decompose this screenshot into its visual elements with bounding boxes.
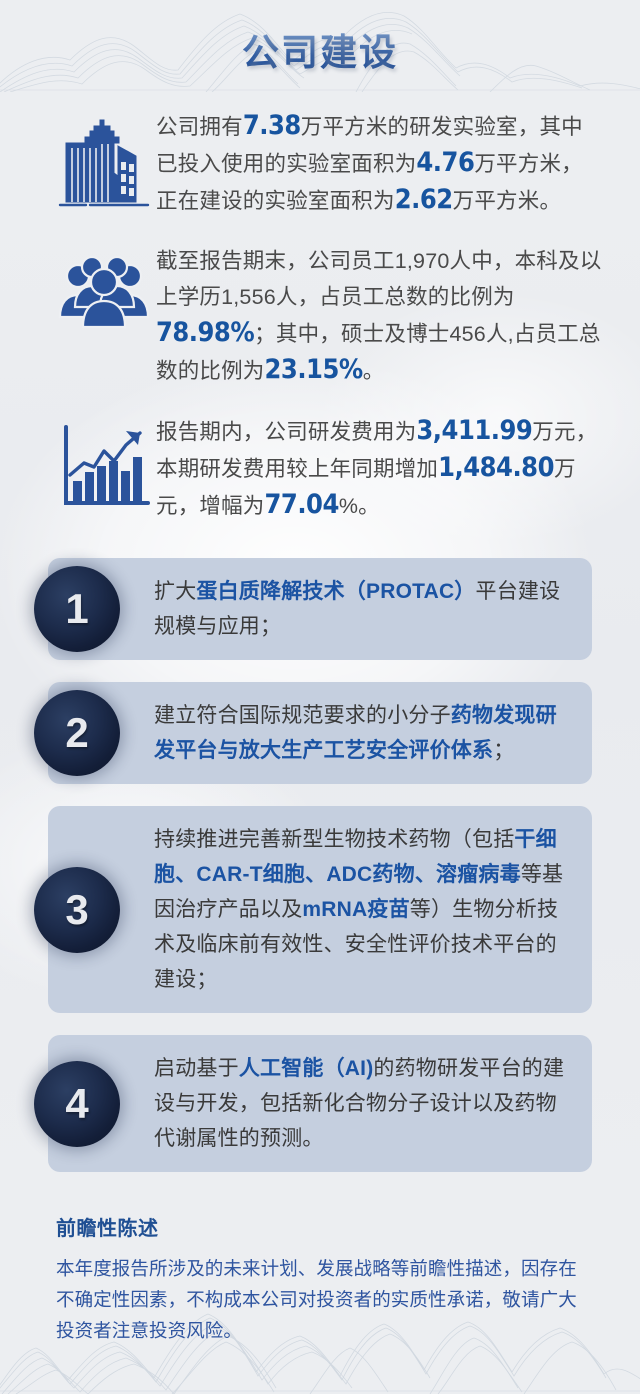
stats-section: 公司拥有7.38万平方米的研发实验室，其中已投入使用的实验室面积为4.76万平方… [0, 98, 640, 524]
footer-body: 本年度报告所涉及的未来计划、发展战略等前瞻性描述，因存在不确定性因素，不构成本公… [56, 1253, 584, 1346]
card-text-part: 持续推进完善新型生物技术药物（包括 [154, 828, 514, 851]
stat-highlight-value: 1,484.80 [438, 452, 554, 483]
page-title: 公司建设 [242, 22, 398, 76]
stat-highlight-value: 7.38 [243, 110, 301, 141]
stat-row: 公司拥有7.38万平方米的研发实验室，其中已投入使用的实验室面积为4.76万平方… [0, 106, 640, 219]
stat-text: 公司拥有7.38万平方米的研发实验室，其中已投入使用的实验室面积为4.76万平方… [156, 106, 604, 219]
building-icon [56, 114, 152, 210]
list-item-text: 持续推进完善新型生物技术药物（包括干细胞、CAR-T细胞、ADC药物、溶瘤病毒等… [154, 822, 570, 997]
badge-number: 4 [65, 1083, 88, 1125]
list-item: 4 启动基于人工智能（AI)的药物研发平台的建设与开发，包括新化合物分子设计以及… [48, 1035, 592, 1172]
stat-text-part: 报告期内，公司研发费用为 [156, 420, 416, 444]
stat-text-part: 截至报告期末，公司员工1,970人中，本科及以上学历1,556人，占员工总数的比… [156, 249, 601, 309]
stat-text-part: 。 [363, 359, 385, 383]
stat-text-part: 公司拥有 [156, 115, 243, 139]
list-item-text: 启动基于人工智能（AI)的药物研发平台的建设与开发，包括新化合物分子设计以及药物… [154, 1051, 570, 1156]
card-text-part: 扩大 [154, 580, 196, 603]
list-item: 2 建立符合国际规范要求的小分子药物发现研发平台与放大生产工艺安全评价体系； [48, 682, 592, 784]
stat-text: 截至报告期末，公司员工1,970人中，本科及以上学历1,556人，占员工总数的比… [156, 241, 604, 389]
list-item-badge: 4 [34, 1061, 120, 1147]
stat-highlight-value: 3,411.99 [416, 415, 532, 446]
card-highlight-part: 人工智能（AI) [239, 1057, 374, 1080]
people-group-icon [56, 249, 152, 329]
badge-number: 3 [65, 889, 88, 931]
stat-text: 报告期内，公司研发费用为3,411.99万元，本期研发费用较上年同期增加1,48… [156, 411, 604, 524]
stat-highlight-value: 78.98% [156, 317, 254, 348]
stat-row: 报告期内，公司研发费用为3,411.99万元，本期研发费用较上年同期增加1,48… [0, 411, 640, 524]
card-text-part: 启动基于 [154, 1057, 239, 1080]
stat-text-part: %。 [339, 494, 380, 518]
badge-number: 2 [65, 712, 88, 754]
growth-chart-icon [56, 419, 152, 511]
stat-highlight-value: 4.76 [416, 147, 474, 178]
list-item-badge: 1 [34, 566, 120, 652]
list-item: 3 持续推进完善新型生物技术药物（包括干细胞、CAR-T细胞、ADC药物、溶瘤病… [48, 806, 592, 1013]
list-item-text: 扩大蛋白质降解技术（PROTAC）平台建设规模与应用； [154, 574, 570, 644]
footer-title: 前瞻性陈述 [56, 1212, 584, 1241]
stat-highlight-value: 77.04 [265, 489, 339, 520]
card-text-part: 建立符合国际规范要求的小分子 [154, 704, 451, 727]
stat-text-part: 万平方米。 [453, 189, 562, 213]
list-item-badge: 3 [34, 867, 120, 953]
stat-icon-wrap [52, 106, 156, 210]
stat-icon-wrap [52, 411, 156, 511]
initiatives-list: 1 扩大蛋白质降解技术（PROTAC）平台建设规模与应用； 2 建立符合国际规范… [0, 546, 640, 1172]
list-item-badge: 2 [34, 690, 120, 776]
list-item: 1 扩大蛋白质降解技术（PROTAC）平台建设规模与应用； [48, 558, 592, 660]
card-text-part: ； [493, 739, 514, 762]
header: 公司建设 [0, 0, 640, 98]
forward-looking-statement: 前瞻性陈述 本年度报告所涉及的未来计划、发展战略等前瞻性描述，因存在不确定性因素… [0, 1194, 640, 1346]
stat-highlight-value: 2.62 [395, 184, 453, 215]
card-highlight-part: 蛋白质降解技术（PROTAC） [196, 580, 475, 603]
infographic-page: 公司建设 [0, 0, 640, 1394]
stat-row: 截至报告期末，公司员工1,970人中，本科及以上学历1,556人，占员工总数的比… [0, 241, 640, 389]
stat-icon-wrap [52, 241, 156, 329]
card-highlight-part: mRNA疫苗 [302, 898, 409, 921]
stat-highlight-value: 23.15% [265, 354, 363, 385]
list-item-text: 建立符合国际规范要求的小分子药物发现研发平台与放大生产工艺安全评价体系； [154, 698, 570, 768]
badge-number: 1 [65, 588, 88, 630]
